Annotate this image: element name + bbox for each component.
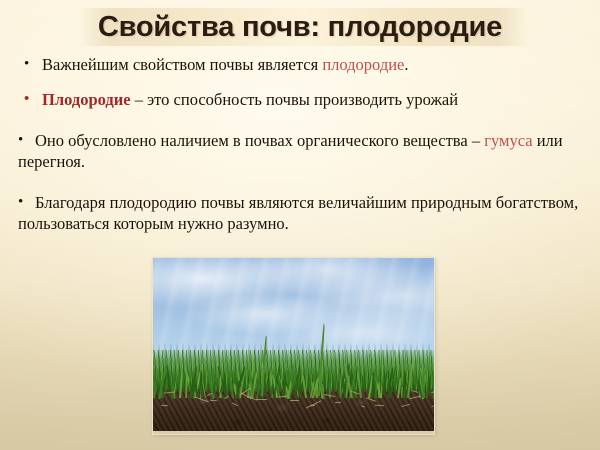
bullet-segment-accent: плодородие — [322, 55, 404, 74]
bullet-text: Благодаря плодородию почвы являются вели… — [18, 192, 600, 234]
bullet-segment: – это способность почвы производить урож… — [131, 90, 458, 109]
grass-blade — [433, 381, 434, 398]
soil-root — [289, 400, 298, 401]
photo-soil — [153, 392, 434, 434]
soil-root — [161, 404, 168, 405]
bullet-marker-icon: • — [24, 54, 29, 75]
slide-title: Свойства почв: плодородие — [0, 6, 600, 48]
bullet-item: • Благодаря плодородию почвы являются ве… — [0, 192, 600, 234]
title-text: Свойства почв: плодородие — [0, 6, 600, 48]
soil-cross-section-photo — [153, 258, 434, 434]
bullet-marker-icon: • — [18, 192, 23, 213]
bullet-segment-term: Плодородие — [42, 90, 131, 109]
soil-root — [375, 404, 384, 406]
grass-blade — [378, 382, 380, 398]
bullet-text: Важнейшим свойством почвы является плодо… — [42, 54, 600, 75]
bullet-segment: . — [404, 55, 408, 74]
bullet-marker-icon: • — [18, 130, 23, 151]
bullet-item: • Оно обусловлено наличием в почвах орга… — [0, 130, 600, 172]
bullet-item: • Важнейшим свойством почвы является пло… — [0, 54, 600, 75]
bullet-text: Оно обусловлено наличием в почвах органи… — [18, 130, 600, 172]
bullet-list: • Важнейшим свойством почвы является пло… — [0, 54, 600, 234]
bullet-item: • Плодородие – это способность почвы про… — [0, 89, 600, 110]
bullet-segment: Важнейшим свойством почвы является — [42, 55, 322, 74]
bullet-marker-icon: • — [24, 89, 29, 110]
slide-canvas: Свойства почв: плодородие • Важнейшим св… — [0, 0, 600, 450]
grass-blade — [185, 377, 187, 398]
bullet-text: Плодородие – это способность почвы произ… — [42, 89, 600, 110]
soil-root — [335, 402, 341, 403]
grass-blade — [160, 380, 162, 398]
photo-bottom-edge — [153, 431, 434, 434]
bullet-segment: Оно обусловлено наличием в почвах органи… — [35, 131, 484, 150]
bullet-segment-accent: гумуса — [484, 131, 532, 150]
bullet-segment: Благодаря плодородию почвы являются вели… — [18, 193, 578, 233]
